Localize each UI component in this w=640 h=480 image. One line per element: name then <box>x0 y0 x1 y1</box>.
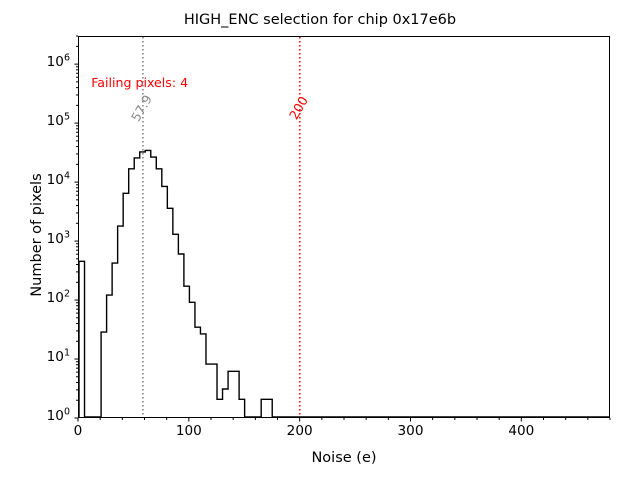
page-title: HIGH_ENC selection for chip 0x17e6b <box>0 12 640 28</box>
plot-axes-area[interactable]: Failing pixels: 4 57.9 200 <box>78 36 610 418</box>
x-tick-label: 300 <box>398 423 424 439</box>
x-tick-label: 400 <box>508 423 534 439</box>
vertical-reference-lines <box>143 37 300 417</box>
histogram-canvas <box>79 37 609 417</box>
y-tick-label: 106 <box>26 56 70 70</box>
x-tick-label: 100 <box>176 423 202 439</box>
histogram-outline <box>79 150 609 417</box>
y-tick-label: 100 <box>26 410 70 424</box>
failing-pixels-annotation: Failing pixels: 4 <box>91 75 188 90</box>
y-axis-label: Number of pixels <box>29 110 45 360</box>
x-tick-label: 200 <box>287 423 313 439</box>
x-axis-label: Noise (e) <box>78 450 610 466</box>
histogram-step-series <box>79 150 609 417</box>
x-tick-label: 0 <box>74 423 83 439</box>
matplotlib-figure: HIGH_ENC selection for chip 0x17e6b Fail… <box>0 0 640 480</box>
